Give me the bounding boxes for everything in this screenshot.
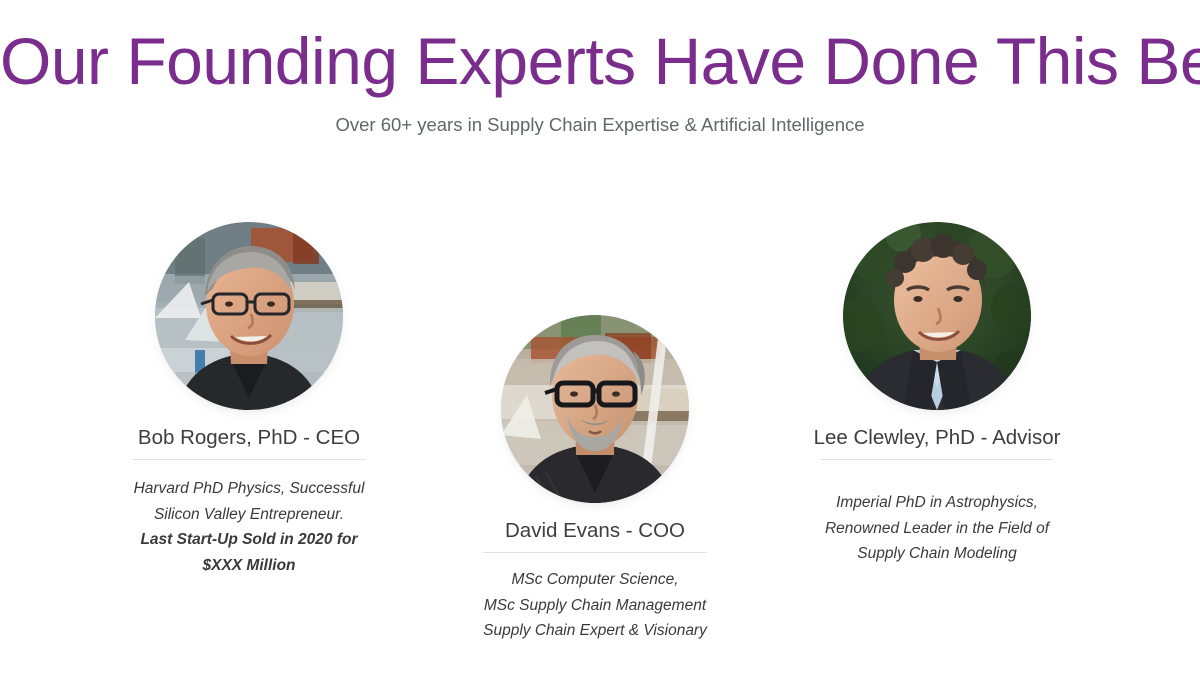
bio-line: MSc Computer Science, (450, 567, 740, 593)
person-name: Bob Rogers, PhD - CEO (108, 425, 390, 451)
avatar (501, 315, 689, 503)
avatar (155, 222, 343, 410)
person-bio: Imperial PhD in Astrophysics, Renowned L… (789, 490, 1085, 568)
person-card-bob-rogers: Bob Rogers, PhD - CEO Harvard PhD Physic… (108, 222, 390, 579)
bio-line: Last Start-Up Sold in 2020 for (108, 527, 390, 553)
name-divider (821, 459, 1053, 460)
page-subtitle: Over 60+ years in Supply Chain Expertise… (0, 113, 1200, 137)
person-name: Lee Clewley, PhD - Advisor (789, 425, 1085, 451)
person-bio: Harvard PhD Physics, Successful Silicon … (108, 476, 390, 580)
person-card-david-evans: David Evans - COO MSc Computer Science, … (450, 315, 740, 644)
person-name: David Evans - COO (450, 518, 740, 544)
bio-line: $XXX Million (108, 553, 390, 579)
bio-line: Supply Chain Expert & Visionary (450, 618, 740, 644)
avatar-wrapper (843, 222, 1031, 410)
name-divider (133, 459, 366, 460)
person-card-lee-clewley: Lee Clewley, PhD - Advisor Imperial PhD … (789, 222, 1085, 567)
avatar-wrapper (155, 222, 343, 410)
page-title: Our Founding Experts Have Done This Befo… (0, 26, 1200, 97)
name-divider (483, 552, 707, 553)
bio-line: Supply Chain Modeling (789, 541, 1085, 567)
bio-line: Harvard PhD Physics, Successful (108, 476, 390, 502)
avatar (843, 222, 1031, 410)
bio-line: MSc Supply Chain Management (450, 593, 740, 619)
person-bio: MSc Computer Science, MSc Supply Chain M… (450, 567, 740, 645)
bio-line: Silicon Valley Entrepreneur. (108, 502, 390, 528)
bio-line: Renowned Leader in the Field of (789, 516, 1085, 542)
bio-line: Imperial PhD in Astrophysics, (789, 490, 1085, 516)
avatar-wrapper (501, 315, 689, 503)
